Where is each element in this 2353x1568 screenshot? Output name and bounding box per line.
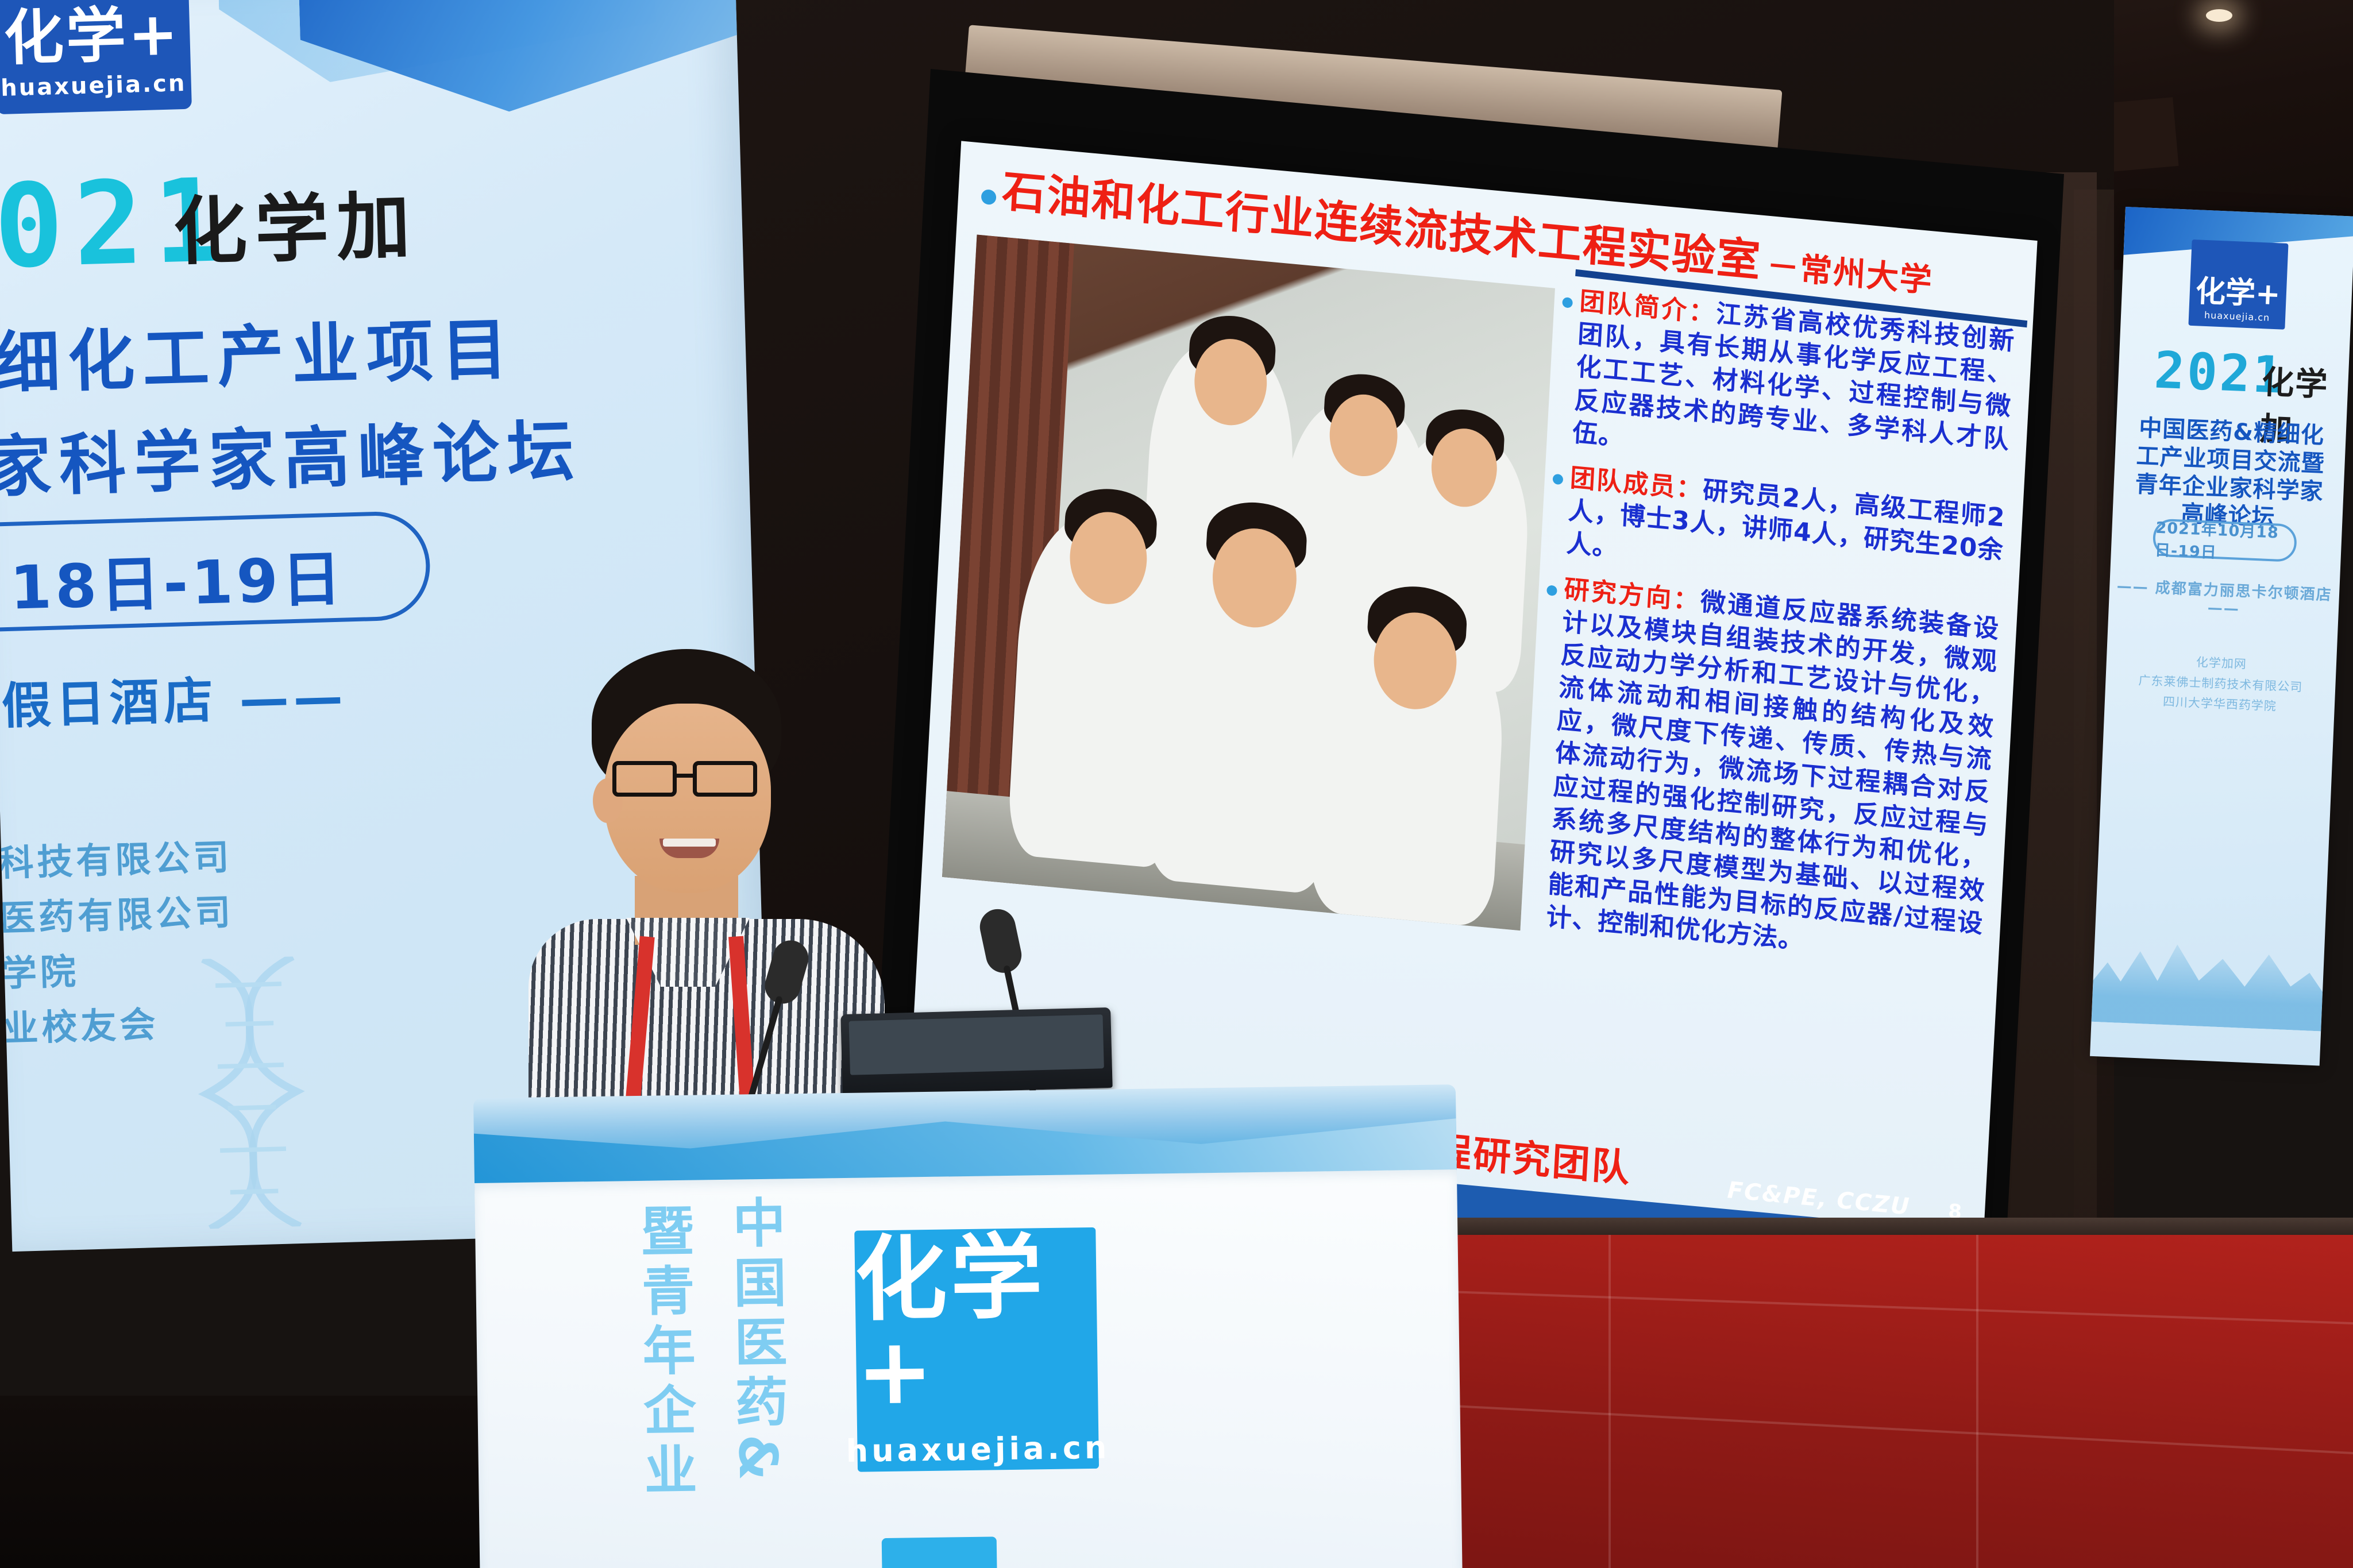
- slide-title-sub: －常州大学: [1766, 240, 1934, 302]
- podium-accent-chip: [882, 1536, 998, 1568]
- banner-venue: —— 成都富力丽思卡尔顿酒店 ——: [2108, 574, 2339, 622]
- backdrop-wave: [298, 0, 770, 117]
- backdrop-brand: 化学加: [172, 166, 419, 279]
- backdrop-date: 0月18日-19日: [0, 530, 346, 629]
- backdrop-title-line2: 业家科学家高峰论坛: [0, 397, 583, 512]
- banner-logo: 化学+ huaxuejia.cn: [2188, 240, 2288, 330]
- podium-vertical-text-left: 暨青年企业: [624, 1203, 705, 1503]
- podium-top-band: [473, 1084, 1457, 1184]
- slide-block-body: 江苏省高校优秀科技创新团队，具有长期从事化学反应工程、化工工艺、材料化学、过程控…: [1572, 299, 2015, 454]
- backdrop-logo-url: huaxuejia.cn: [1, 70, 187, 102]
- backdrop-logo-mark: 化学+: [3, 3, 181, 68]
- podium-face: 暨青年企业 中国医药& 化学+ huaxuejia.cn: [475, 1169, 1463, 1568]
- bullet-dot-icon: [1546, 585, 1557, 596]
- backdrop-venue: 皇冠假日酒店 ——: [0, 656, 348, 741]
- slide-team-photo: [942, 234, 1555, 930]
- banner-date: 2021年10月18日-19日: [2154, 515, 2295, 566]
- lectern-laptop: [840, 1007, 1113, 1095]
- slide-text-column: 团队简介：江苏省高校优秀科技创新团队，具有长期从事化学反应工程、化工工艺、材料化…: [1545, 285, 2016, 986]
- banner-logo-url: huaxuejia.cn: [2204, 310, 2270, 323]
- podium-logo: 化学+ huaxuejia.cn: [854, 1227, 1099, 1472]
- bullet-dot-icon: [981, 189, 996, 205]
- event-banner-right: 化学+ huaxuejia.cn 2021 化学加 中国医药&精细化工产业项目交…: [2090, 207, 2353, 1065]
- dna-helix-graphic: [165, 955, 368, 1230]
- bullet-dot-icon: [1553, 474, 1564, 485]
- slide-block-body: 微通道反应器系统装备设计以及模块自组装技术的开发，微观反应动力学分析和工艺设计与…: [1545, 587, 2000, 956]
- backdrop-logo: 化学+ huaxuejia.cn: [0, 0, 192, 114]
- eyeglasses-icon: [612, 761, 766, 799]
- podium-logo-mark: 化学+: [854, 1230, 1098, 1418]
- banner-org-list: 化学加网 广东莱佛士制药技术有限公司 四川大学华西药学院: [2104, 648, 2336, 720]
- podium-vertical-text-right: 中国医药&: [716, 1195, 796, 1488]
- podium-logo-url: huaxuejia.cn: [846, 1429, 1110, 1469]
- banner-skyline-graphic: [2092, 918, 2325, 1032]
- podium: 暨青年企业 中国医药& 化学+ huaxuejia.cn: [473, 1084, 1463, 1568]
- banner-logo-mark: 化学+: [2195, 276, 2281, 310]
- bullet-dot-icon: [1562, 297, 1573, 308]
- backdrop-title-line1: 精细化工产业项目: [0, 295, 517, 408]
- slide-text-block: 研究方向：微通道反应器系统装备设计以及模块自组装技术的开发，微观反应动力学分析和…: [1545, 573, 2000, 974]
- conference-hall-scene: 化学+ huaxuejia.cn 2021 化学加 精细化工产业项目 业家科学家…: [0, 0, 2353, 1568]
- banner-date-pill: 2021年10月18日-19日: [2153, 519, 2298, 562]
